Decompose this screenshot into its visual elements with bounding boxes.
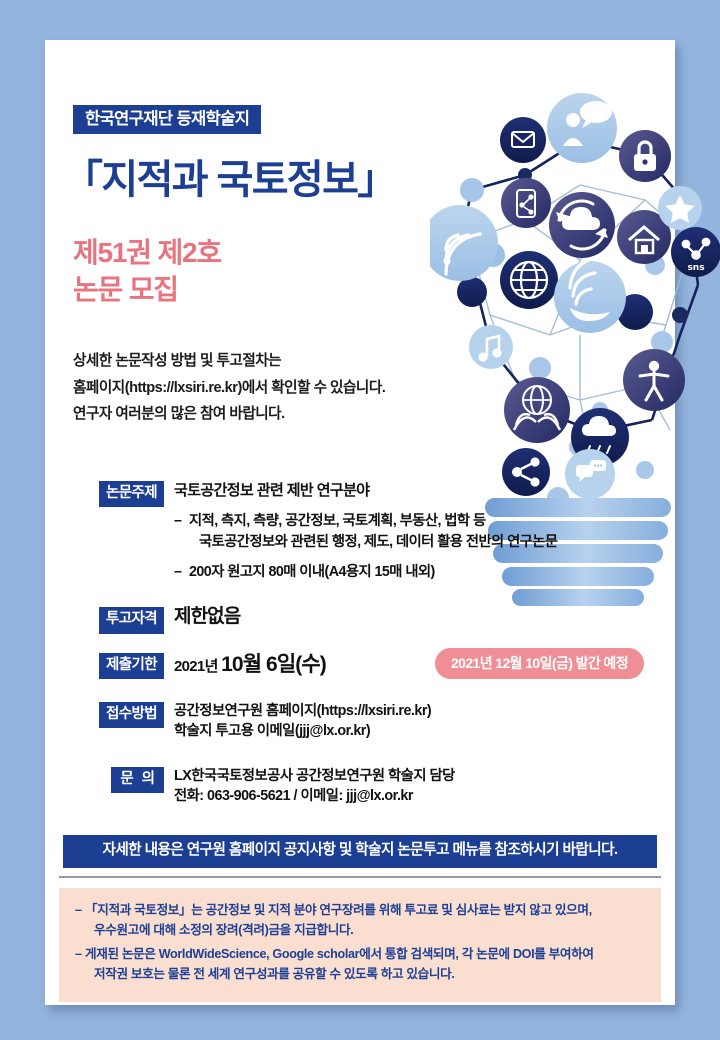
row-body: 제한없음 (164, 606, 652, 629)
speech-person-icon (547, 93, 617, 163)
bullet-text: 지적, 측지, 측량, 공간정보, 국토계획, 부동산, 법학 등 (189, 513, 486, 529)
row-body: 공간정보연구원 홈페이지(https://lxsiri.re.kr) 학술지 투… (164, 701, 652, 742)
eligibility-value: 제한없음 (174, 606, 652, 629)
footnote-subtext: 우수원고에 대해 소정의 장려(격려)금을 지급합니다. (85, 920, 645, 940)
publication-date-badge: 2021년 12월 10일(금) 발간 예정 (435, 648, 644, 679)
footnote-subtext: 저작권 보호는 물론 전 세계 연구성과를 공유할 수 있도록 하고 있습니다. (85, 964, 645, 984)
topic-heading: 국토공간정보 관련 제반 연구분야 (174, 480, 652, 502)
info-row-contact: 문의 LX한국국토정보공사 공간정보연구원 학술지 담당 전화: 063-906… (82, 766, 652, 807)
volume-number: 제51권 제2호 (73, 235, 221, 272)
footnote-text-wrap: 「지적과 국토정보」는 공간정보 및 지적 분야 연구장려를 위해 투고료 및 … (85, 900, 645, 941)
bullet-subtext: 국토공간정보와 관련된 행정, 제도, 데이터 활용 전반의 연구논문 (189, 532, 652, 553)
label-chip-contact: 문의 (111, 767, 164, 793)
lock-icon (619, 130, 671, 182)
bullet-item: – 200자 원고지 80매 이내(A4용지 15매 내외) (174, 562, 652, 583)
globe-hands-icon (504, 377, 570, 443)
intro-line-3: 연구자 여러분의 많은 참여 바랍니다. (73, 401, 385, 428)
chip-cell: 접수방법 (82, 701, 164, 728)
dot-small (636, 461, 654, 479)
footnote-text: 게재된 논문은 WorldWideScience, Google scholar… (85, 947, 594, 961)
intro-line-2: 홈페이지(https://lxsiri.re.kr)에서 확인할 수 있습니다. (73, 375, 385, 402)
deadline-year: 2021년 (174, 658, 218, 675)
contact-line-2: 전화: 063-906-5621 / 이메일: jjj@lx.or.kr (174, 786, 652, 806)
bullet-text: 200자 원고지 80매 이내(A4용지 15매 내외) (189, 562, 652, 583)
chip-cell: 논문주제 (82, 480, 164, 507)
intro-line-1: 상세한 논문작성 방법 및 투고절차는 (73, 348, 385, 375)
label-chip-submission: 접수방법 (99, 702, 164, 728)
submission-line-1: 공간정보연구원 홈페이지(https://lxsiri.re.kr) (174, 701, 652, 721)
share-phone-icon (501, 178, 551, 228)
call-for-papers-label: 논문 모집 (73, 272, 221, 309)
footnote-item: – 게재된 논문은 WorldWideScience, Google schol… (75, 944, 645, 985)
lightbulb-network-illustration: sns (430, 80, 720, 500)
footnote-box: – 「지적과 국토정보」는 공간정보 및 지적 분야 연구장려를 위해 투고료 … (59, 888, 661, 1002)
info-row-topic: 논문주제 국토공간정보 관련 제반 연구분야 – 지적, 측지, 측량, 공간정… (82, 480, 652, 592)
dash-marker: – (75, 900, 85, 941)
intro-paragraph: 상세한 논문작성 방법 및 투고절차는 홈페이지(https://lxsiri.… (73, 348, 385, 428)
envelope-icon (500, 117, 546, 163)
label-chip-deadline: 제출기한 (99, 653, 164, 679)
info-table: 논문주제 국토공간정보 관련 제반 연구분야 – 지적, 측지, 측량, 공간정… (82, 480, 652, 820)
poster-card: 한국연구재단 등재학술지 「지적과 국토정보」 제51권 제2호 논문 모집 상… (45, 40, 675, 1005)
row-body: 국토공간정보 관련 제반 연구분야 – 지적, 측지, 측량, 공간정보, 국토… (164, 480, 652, 592)
hand-wifi-icon (554, 257, 626, 333)
footnote-text-wrap: 게재된 논문은 WorldWideScience, Google scholar… (85, 944, 645, 985)
dash-marker: – (75, 944, 85, 985)
info-row-deadline: 제출기한 2021년 10월 6일(수) 2021년 12월 10일(금) 발간… (82, 652, 652, 679)
dash-marker: – (174, 511, 189, 553)
bullet-text-wrap: 지적, 측지, 측량, 공간정보, 국토계획, 부동산, 법학 등 국토공간정보… (189, 511, 652, 553)
bullet-item: – 지적, 측지, 측량, 공간정보, 국토계획, 부동산, 법학 등 국토공간… (174, 511, 652, 553)
chip-cell: 제출기한 (82, 652, 164, 679)
info-row-submission: 접수방법 공간정보연구원 홈페이지(https://lxsiri.re.kr) … (82, 701, 652, 742)
notice-bar: 자세한 내용은 연구원 홈페이지 공지사항 및 학술지 논문투고 메뉴를 참조하… (63, 835, 657, 868)
info-row-eligibility: 투고자격 제한없음 (82, 606, 652, 633)
sns-network-icon: sns (671, 227, 720, 277)
chip-cell: 문의 (82, 766, 164, 793)
footnote-text: 「지적과 국토정보」는 공간정보 및 지적 분야 연구장려를 위해 투고료 및 … (85, 903, 592, 917)
poster-frame: 한국연구재단 등재학술지 「지적과 국토정보」 제51권 제2호 논문 모집 상… (0, 0, 720, 1040)
wifi-signal-icon (430, 205, 498, 281)
volume-call-heading: 제51권 제2호 논문 모집 (73, 235, 221, 309)
label-chip-eligibility: 투고자격 (99, 607, 164, 633)
chip-cell: 투고자격 (82, 606, 164, 633)
footer-divider (59, 876, 661, 878)
dash-marker: – (174, 562, 189, 583)
label-chip-topic: 논문주제 (99, 481, 164, 507)
person-icon (623, 349, 685, 411)
star-icon (658, 186, 702, 230)
cloud-sync-icon (549, 192, 615, 258)
contact-line-1: LX한국국토정보공사 공간정보연구원 학술지 담당 (174, 766, 652, 786)
svg-text:sns: sns (687, 263, 704, 273)
topic-bullets: – 지적, 측지, 측량, 공간정보, 국토계획, 부동산, 법학 등 국토공간… (174, 511, 652, 583)
footnote-item: – 「지적과 국토정보」는 공간정보 및 지적 분야 연구장려를 위해 투고료 … (75, 900, 645, 941)
page-title: 「지적과 국토정보」 (63, 158, 396, 202)
kci-accreditation-badge: 한국연구재단 등재학술지 (73, 105, 261, 134)
globe-icon (500, 251, 558, 309)
deadline-date: 10월 6일(수) (221, 653, 326, 676)
submission-line-2: 학술지 투고용 이메일(jjj@lx.or.kr) (174, 721, 652, 741)
music-note-icon (469, 325, 513, 369)
row-body: LX한국국토정보공사 공간정보연구원 학술지 담당 전화: 063-906-56… (164, 766, 652, 807)
